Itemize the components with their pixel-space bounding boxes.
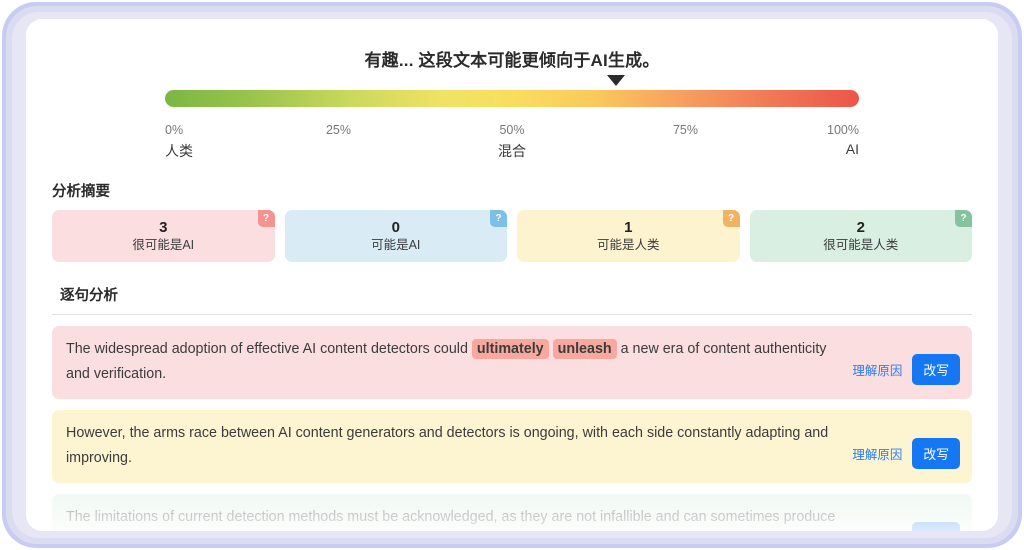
gauge-tick-75-percent: 75% — [673, 123, 698, 137]
summary-card-label: 很可能是AI — [132, 237, 194, 254]
sentence-analysis-section: 逐句分析 The widespread adoption of effectiv… — [26, 262, 998, 531]
summary-heading: 分析摘要 — [26, 180, 998, 210]
help-question-icon[interactable]: ? — [723, 210, 740, 227]
summary-card-maybe-ai[interactable]: 0 可能是AI ? — [285, 210, 508, 262]
summary-card-very-likely-ai[interactable]: 3 很可能是AI ? — [52, 210, 275, 262]
gauge-tick-50: 50% 混合 — [498, 123, 526, 161]
gauge-marker-triangle-icon — [607, 75, 625, 86]
gauge-track-zone — [165, 71, 859, 123]
gauge-tick-25-percent: 25% — [326, 123, 351, 137]
sentence-row-actions: 理解原因 改写 — [852, 354, 960, 387]
summary-card-row: 3 很可能是AI ? 0 可能是AI ? 1 可能是人类 ? 2 很可能是人类 — [26, 210, 998, 262]
sentence-text: The widespread adoption of effective AI … — [66, 337, 852, 387]
summary-card-count: 3 — [159, 219, 167, 237]
summary-card-count: 2 — [857, 219, 865, 237]
rewrite-button[interactable]: 改写 — [912, 522, 960, 531]
gauge-tick-75: 75% — [673, 123, 698, 137]
gauge-tick-0-sublabel: 人类 — [165, 141, 193, 161]
sentence-text: The limitations of current detection met… — [66, 505, 852, 531]
app-root: 有趣... 这段文本可能更倾向于AI生成。 0% 人类 25% 50% 混合 — [0, 0, 1024, 550]
sentence-row-actions: 理解原因 改写 — [852, 438, 960, 471]
sentence-row[interactable]: The limitations of current detection met… — [52, 494, 972, 531]
gauge-tick-0-percent: 0% — [165, 123, 183, 137]
gauge-tick-100-percent: 100% — [827, 123, 859, 137]
gauge-tick-labels: 0% 人类 25% 50% 混合 75% 100% AI — [165, 123, 859, 161]
flagged-phrase[interactable]: ultimately — [472, 339, 549, 359]
gauge-tick-100: 100% AI — [827, 123, 859, 157]
summary-card-count: 1 — [624, 219, 632, 237]
rewrite-button[interactable]: 改写 — [912, 354, 960, 385]
explain-reason-link[interactable]: 理解原因 — [852, 528, 902, 531]
explain-reason-link[interactable]: 理解原因 — [852, 360, 902, 379]
summary-card-label: 很可能是人类 — [823, 237, 898, 254]
sentence-text-gap — [549, 341, 553, 357]
sentence-analysis-heading: 逐句分析 — [52, 284, 972, 314]
sentence-row[interactable]: The widespread adoption of effective AI … — [52, 326, 972, 399]
divider — [52, 314, 972, 315]
gauge-gradient-bar[interactable] — [165, 90, 859, 107]
summary-card-label: 可能是人类 — [597, 237, 660, 254]
flagged-phrase[interactable]: unleash — [553, 339, 617, 359]
gauge-tick-100-sublabel: AI — [827, 141, 859, 157]
explain-reason-link[interactable]: 理解原因 — [852, 444, 902, 463]
sentence-text-part: The widespread adoption of effective AI … — [66, 341, 472, 357]
summary-card-maybe-human[interactable]: 1 可能是人类 ? — [517, 210, 740, 262]
summary-card-count: 0 — [392, 219, 400, 237]
gauge-tick-50-percent: 50% — [499, 123, 524, 137]
ai-likelihood-gauge: 有趣... 这段文本可能更倾向于AI生成。 0% 人类 25% 50% 混合 — [26, 19, 998, 161]
help-question-icon[interactable]: ? — [490, 210, 507, 227]
gauge-tick-0: 0% 人类 — [165, 123, 193, 161]
sentence-row[interactable]: However, the arms race between AI conten… — [52, 410, 972, 483]
gauge-verdict-title: 有趣... 这段文本可能更倾向于AI生成。 — [26, 19, 998, 71]
sentence-row-actions: 理解原因 改写 — [852, 522, 960, 531]
help-question-icon[interactable]: ? — [258, 210, 275, 227]
gauge-tick-25: 25% — [326, 123, 351, 137]
sentence-list: The widespread adoption of effective AI … — [52, 326, 972, 531]
sentence-text: However, the arms race between AI conten… — [66, 421, 852, 471]
rewrite-button[interactable]: 改写 — [912, 438, 960, 469]
help-question-icon[interactable]: ? — [955, 210, 972, 227]
result-card: 有趣... 这段文本可能更倾向于AI生成。 0% 人类 25% 50% 混合 — [26, 19, 998, 531]
summary-card-very-likely-human[interactable]: 2 很可能是人类 ? — [750, 210, 973, 262]
gauge-tick-50-sublabel: 混合 — [498, 141, 526, 161]
summary-card-label: 可能是AI — [371, 237, 420, 254]
